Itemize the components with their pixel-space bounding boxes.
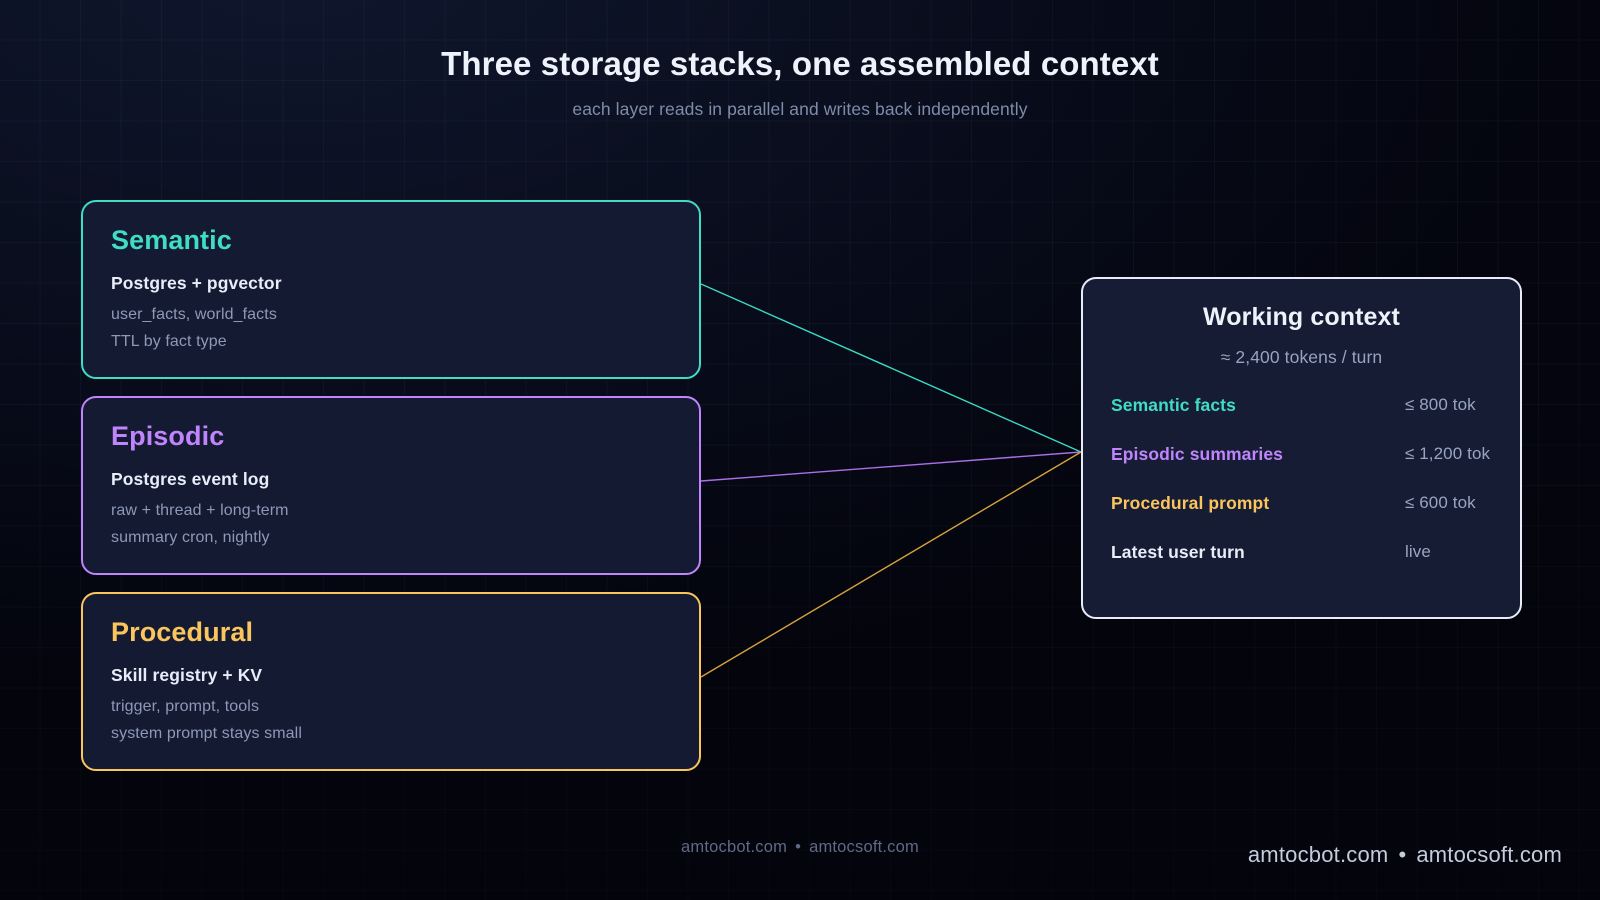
footer-center-left: amtocbot.com bbox=[681, 838, 787, 856]
card-semantic-subtitle: Postgres + pgvector bbox=[111, 273, 671, 294]
card-episodic-subtitle: Postgres event log bbox=[111, 469, 671, 490]
card-spacer bbox=[83, 743, 699, 769]
slide-header: Three storage stacks, one assembled cont… bbox=[0, 44, 1600, 120]
row-value: live bbox=[1405, 542, 1431, 562]
card-procedural-title: Procedural bbox=[111, 618, 671, 648]
card-episodic-note-2: summary cron, nightly bbox=[111, 529, 671, 547]
row-label: Semantic facts bbox=[1111, 395, 1236, 415]
working-context-rows: Semantic facts ≤ 800 tok Episodic summar… bbox=[1083, 395, 1520, 591]
page-title: Three storage stacks, one assembled cont… bbox=[0, 44, 1600, 84]
footer-right: amtocbot.com•amtocsoft.com bbox=[1248, 842, 1562, 868]
card-spacer bbox=[83, 547, 699, 573]
card-semantic-note-1: user_facts, world_facts bbox=[111, 306, 671, 324]
row-value: ≤ 1,200 tok bbox=[1405, 444, 1490, 464]
card-spacer bbox=[83, 351, 699, 377]
footer-right-left: amtocbot.com bbox=[1248, 842, 1389, 867]
card-procedural-note-1: trigger, prompt, tools bbox=[111, 698, 671, 716]
card-procedural-note-2: system prompt stays small bbox=[111, 725, 671, 743]
card-episodic-title: Episodic bbox=[111, 422, 671, 452]
working-context-title: Working context bbox=[1083, 303, 1520, 332]
card-semantic-title: Semantic bbox=[111, 226, 671, 256]
footer-right-separator: • bbox=[1398, 842, 1406, 867]
working-context-row-latest-user-turn: Latest user turn live bbox=[1111, 542, 1494, 591]
working-context-row-procedural-prompt: Procedural prompt ≤ 600 tok bbox=[1111, 493, 1494, 542]
working-context-row-episodic-summaries: Episodic summaries ≤ 1,200 tok bbox=[1111, 444, 1494, 493]
row-label: Latest user turn bbox=[1111, 542, 1245, 562]
card-semantic[interactable]: Semantic Postgres + pgvector user_facts,… bbox=[81, 200, 701, 379]
card-episodic-note-1: raw + thread + long-term bbox=[111, 502, 671, 520]
page-subtitle: each layer reads in parallel and writes … bbox=[0, 99, 1600, 120]
footer-center-separator: • bbox=[795, 838, 801, 856]
row-label: Procedural prompt bbox=[1111, 493, 1269, 513]
footer-center-right: amtocsoft.com bbox=[809, 838, 919, 856]
working-context-subtitle: ≈ 2,400 tokens / turn bbox=[1083, 347, 1520, 368]
working-context-panel[interactable]: Working context ≈ 2,400 tokens / turn Se… bbox=[1081, 277, 1522, 619]
row-value: ≤ 600 tok bbox=[1405, 493, 1476, 513]
row-value: ≤ 800 tok bbox=[1405, 395, 1476, 415]
card-semantic-note-2: TTL by fact type bbox=[111, 333, 671, 351]
card-episodic[interactable]: Episodic Postgres event log raw + thread… bbox=[81, 396, 701, 575]
working-context-row-semantic-facts: Semantic facts ≤ 800 tok bbox=[1111, 395, 1494, 444]
footer-right-right: amtocsoft.com bbox=[1416, 842, 1562, 867]
card-procedural-subtitle: Skill registry + KV bbox=[111, 665, 671, 686]
row-label: Episodic summaries bbox=[1111, 444, 1283, 464]
card-procedural[interactable]: Procedural Skill registry + KV trigger, … bbox=[81, 592, 701, 771]
